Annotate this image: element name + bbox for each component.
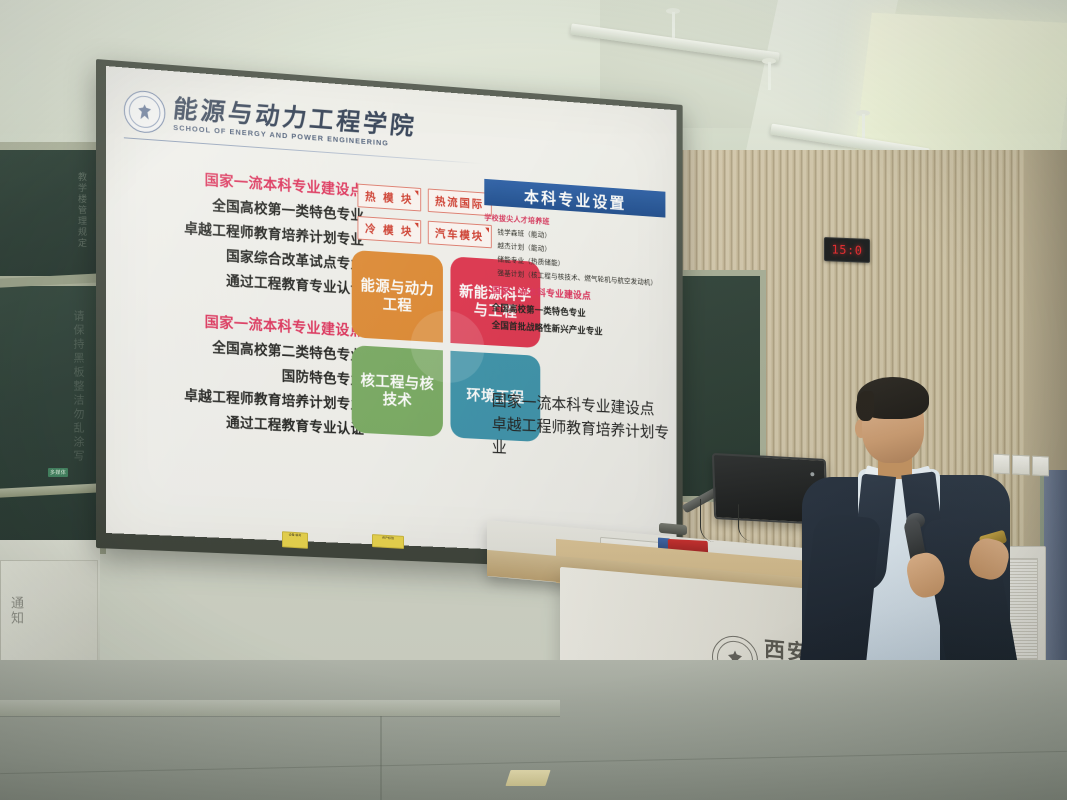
module-tag-0-0: 热 模 块 xyxy=(357,184,420,212)
lectern-cable-a xyxy=(700,499,727,543)
led-clock: 15:0 xyxy=(824,237,870,263)
bezel-sticker-1: 资产标签 xyxy=(372,534,404,549)
slide-canvas: 能源与动力工程学院 SCHOOL OF ENERGY AND POWER ENG… xyxy=(106,66,676,557)
low-cabinet-text: 通知 xyxy=(6,596,25,626)
quadrant-bottom-left: 核工程与核技术 xyxy=(352,345,443,437)
floor-step xyxy=(0,700,560,716)
slide-left-column: 国家一流本科专业建设点 全国高校第一类特色专业 卓越工程师教育培养计划专业 国家… xyxy=(116,163,364,444)
floor-seam-c xyxy=(380,716,382,800)
chalk-writing-lower: 请保持黑板整洁勿乱涂写 xyxy=(70,310,85,490)
blackboard-tray-label: 多媒体 xyxy=(48,468,68,477)
right-block-2-line-0: 卓越工程师教育培养计划专业 xyxy=(492,410,677,466)
module-tag-1-0: 冷 模 块 xyxy=(357,216,420,244)
slide-header: 能源与动力工程学院 SCHOOL OF ENERGY AND POWER ENG… xyxy=(124,89,417,152)
lecture-hall-photo: 15:0 教学楼管理规定 请保持黑板整洁勿乱涂写 多媒体 通知 能源与动力工程学… xyxy=(0,0,1067,800)
right-block-2: 国家一流本科专业建设点 卓越工程师教育培养计划专业 xyxy=(492,387,677,466)
presenter-sideburn xyxy=(856,391,874,421)
module-tag-1-1: 汽车模块 xyxy=(427,221,491,249)
bezel-sticker-0: 设备 编号 xyxy=(282,531,308,549)
right-block-1: 国家一流本科专业建设点 全国高校第一类特色专业 全国首批战略性新兴产业专业 xyxy=(492,282,677,346)
chalk-writing-upper: 教学楼管理规定 xyxy=(76,172,88,258)
floor-seam-a xyxy=(0,716,560,717)
led-clock-time: 15:0 xyxy=(832,242,863,257)
university-seal-icon xyxy=(124,89,165,134)
presentation-display[interactable]: 能源与动力工程学院 SCHOOL OF ENERGY AND POWER ENG… xyxy=(106,66,676,557)
floor-paper xyxy=(505,770,550,786)
quadrant-top-left: 能源与动力工程 xyxy=(352,250,443,343)
talent-program-list: 学校拔尖人才培养班 钱学森班（能动） 越杰计划（能动） 储能专业（热质储能） 强… xyxy=(484,212,673,293)
module-tag-0-1: 热流国际 xyxy=(427,188,491,216)
right-column-title: 本科专业设置 xyxy=(484,179,665,218)
